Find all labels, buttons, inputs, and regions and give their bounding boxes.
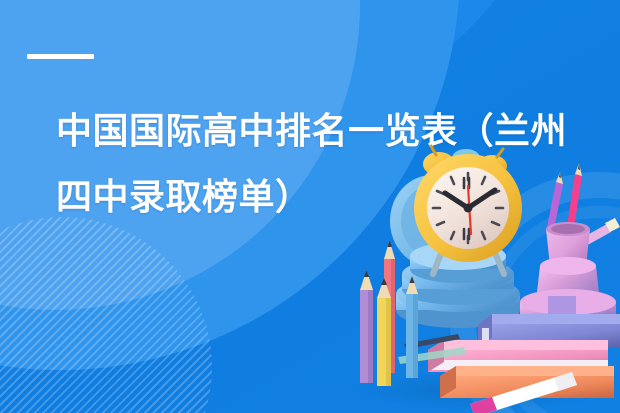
pencil-cup-group [520, 163, 620, 329]
promo-banner: 中国国际高中排名一览表（兰州四中录取榜单） [0, 0, 620, 413]
loose-pencils [360, 240, 418, 386]
pencil-purple [360, 270, 373, 383]
clock-antenna-right [497, 149, 503, 157]
pencil-blue [406, 276, 418, 378]
clock-center-pin [464, 204, 473, 213]
study-desk-illustration [332, 128, 620, 413]
accent-rule [27, 54, 94, 59]
pencil-yellow [377, 278, 391, 386]
